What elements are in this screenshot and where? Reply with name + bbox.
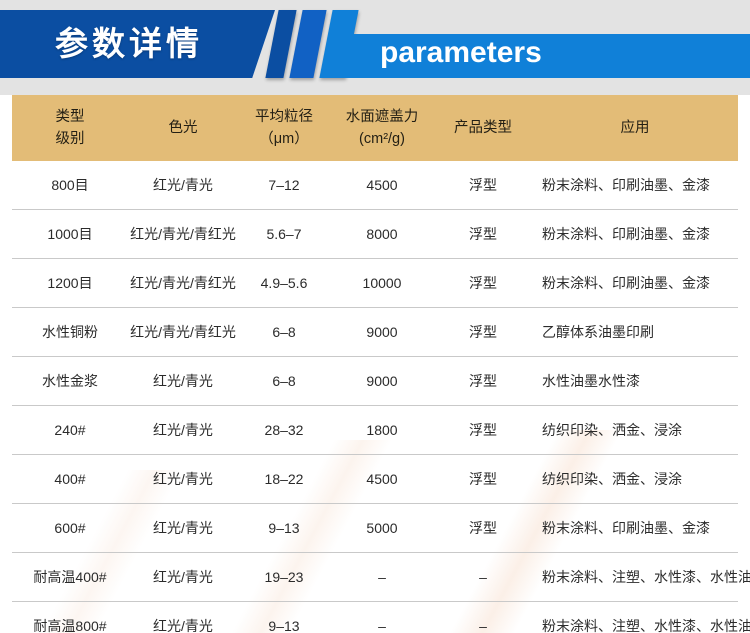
cell-color: 红光/青光/青红光 bbox=[128, 259, 238, 308]
cell-type: 水性铜粉 bbox=[12, 308, 128, 357]
column-header-particle-size-line1: 平均粒径 bbox=[240, 106, 328, 128]
column-header-color-line1: 色光 bbox=[130, 117, 236, 139]
table-row: 耐高温800#红光/青光9–13––粉末涂料、注塑、水性漆、水性油墨 bbox=[12, 602, 738, 633]
cell-application: 粉末涂料、印刷油墨、金漆 bbox=[532, 210, 738, 259]
column-header-water-coverage-line2: (cm²/g) bbox=[332, 128, 432, 150]
cell-particle-size: 9–13 bbox=[238, 602, 330, 633]
cell-water-coverage: 9000 bbox=[330, 357, 434, 406]
table-header-row: 类型 级别 色光 平均粒径 （μm） 水面遮盖力 (cm²/g) bbox=[12, 95, 738, 161]
cell-type: 1200目 bbox=[12, 259, 128, 308]
cell-application: 粉末涂料、印刷油墨、金漆 bbox=[532, 161, 738, 210]
column-header-product-type: 产品类型 bbox=[434, 95, 532, 161]
cell-product-type: 浮型 bbox=[434, 210, 532, 259]
cell-product-type: 浮型 bbox=[434, 259, 532, 308]
cell-type: 耐高温400# bbox=[12, 553, 128, 602]
cell-type: 400# bbox=[12, 455, 128, 504]
cell-particle-size: 4.9–5.6 bbox=[238, 259, 330, 308]
cell-color: 红光/青光 bbox=[128, 504, 238, 553]
cell-product-type: 浮型 bbox=[434, 357, 532, 406]
cell-particle-size: 28–32 bbox=[238, 406, 330, 455]
cell-product-type: – bbox=[434, 602, 532, 633]
cell-water-coverage: 5000 bbox=[330, 504, 434, 553]
cell-water-coverage: 8000 bbox=[330, 210, 434, 259]
cell-water-coverage: 10000 bbox=[330, 259, 434, 308]
banner-top-strip bbox=[0, 0, 750, 10]
banner-title-cn: 参数详情 bbox=[55, 17, 203, 71]
cell-product-type: – bbox=[434, 553, 532, 602]
spec-table-body: 800目红光/青光7–124500浮型粉末涂料、印刷油墨、金漆1000目红光/青… bbox=[12, 161, 738, 633]
cell-water-coverage: – bbox=[330, 553, 434, 602]
cell-color: 红光/青光 bbox=[128, 406, 238, 455]
cell-type: 水性金浆 bbox=[12, 357, 128, 406]
cell-water-coverage: 4500 bbox=[330, 455, 434, 504]
column-header-application-line1: 应用 bbox=[534, 117, 736, 139]
cell-water-coverage: 4500 bbox=[330, 161, 434, 210]
table-row: 耐高温400#红光/青光19–23––粉末涂料、注塑、水性漆、水性油墨 bbox=[12, 553, 738, 602]
cell-application: 纺织印染、洒金、浸涂 bbox=[532, 455, 738, 504]
cell-type: 600# bbox=[12, 504, 128, 553]
cell-product-type: 浮型 bbox=[434, 308, 532, 357]
spec-table-container: 类型 级别 色光 平均粒径 （μm） 水面遮盖力 (cm²/g) bbox=[12, 95, 738, 633]
cell-particle-size: 6–8 bbox=[238, 308, 330, 357]
cell-particle-size: 5.6–7 bbox=[238, 210, 330, 259]
table-row: 240#红光/青光28–321800浮型纺织印染、洒金、浸涂 bbox=[12, 406, 738, 455]
cell-product-type: 浮型 bbox=[434, 455, 532, 504]
spec-table: 类型 级别 色光 平均粒径 （μm） 水面遮盖力 (cm²/g) bbox=[12, 95, 738, 633]
column-header-water-coverage-line1: 水面遮盖力 bbox=[332, 106, 432, 128]
cell-particle-size: 18–22 bbox=[238, 455, 330, 504]
cell-application: 乙醇体系油墨印刷 bbox=[532, 308, 738, 357]
cell-water-coverage: – bbox=[330, 602, 434, 633]
column-header-type-line1: 类型 bbox=[14, 106, 126, 128]
column-header-type-line2: 级别 bbox=[14, 128, 126, 150]
cell-application: 粉末涂料、印刷油墨、金漆 bbox=[532, 259, 738, 308]
cell-particle-size: 7–12 bbox=[238, 161, 330, 210]
column-header-type: 类型 级别 bbox=[12, 95, 128, 161]
cell-type: 240# bbox=[12, 406, 128, 455]
cell-color: 红光/青光 bbox=[128, 455, 238, 504]
cell-type: 耐高温800# bbox=[12, 602, 128, 633]
column-header-particle-size: 平均粒径 （μm） bbox=[238, 95, 330, 161]
page-root: 参数详情 parameters 类型 级别 色光 平 bbox=[0, 0, 750, 633]
cell-application: 粉末涂料、印刷油墨、金漆 bbox=[532, 504, 738, 553]
cell-type: 800目 bbox=[12, 161, 128, 210]
column-header-particle-size-line2: （μm） bbox=[240, 128, 328, 150]
cell-color: 红光/青光 bbox=[128, 357, 238, 406]
cell-particle-size: 9–13 bbox=[238, 504, 330, 553]
page-banner: 参数详情 parameters bbox=[0, 0, 750, 95]
cell-particle-size: 19–23 bbox=[238, 553, 330, 602]
column-header-water-coverage: 水面遮盖力 (cm²/g) bbox=[330, 95, 434, 161]
cell-color: 红光/青光 bbox=[128, 602, 238, 633]
cell-water-coverage: 9000 bbox=[330, 308, 434, 357]
table-row: 400#红光/青光18–224500浮型纺织印染、洒金、浸涂 bbox=[12, 455, 738, 504]
banner-title-en: parameters bbox=[380, 28, 542, 78]
cell-color: 红光/青光/青红光 bbox=[128, 308, 238, 357]
cell-product-type: 浮型 bbox=[434, 161, 532, 210]
table-row: 水性铜粉红光/青光/青红光6–89000浮型乙醇体系油墨印刷 bbox=[12, 308, 738, 357]
cell-color: 红光/青光/青红光 bbox=[128, 210, 238, 259]
cell-application: 水性油墨水性漆 bbox=[532, 357, 738, 406]
cell-water-coverage: 1800 bbox=[330, 406, 434, 455]
cell-product-type: 浮型 bbox=[434, 504, 532, 553]
column-header-product-type-line1: 产品类型 bbox=[436, 117, 530, 139]
column-header-application: 应用 bbox=[532, 95, 738, 161]
spec-table-head: 类型 级别 色光 平均粒径 （μm） 水面遮盖力 (cm²/g) bbox=[12, 95, 738, 161]
cell-application: 粉末涂料、注塑、水性漆、水性油墨 bbox=[532, 553, 738, 602]
table-row: 1200目红光/青光/青红光4.9–5.610000浮型粉末涂料、印刷油墨、金漆 bbox=[12, 259, 738, 308]
table-row: 800目红光/青光7–124500浮型粉末涂料、印刷油墨、金漆 bbox=[12, 161, 738, 210]
cell-particle-size: 6–8 bbox=[238, 357, 330, 406]
cell-color: 红光/青光 bbox=[128, 553, 238, 602]
table-row: 1000目红光/青光/青红光5.6–78000浮型粉末涂料、印刷油墨、金漆 bbox=[12, 210, 738, 259]
column-header-color: 色光 bbox=[128, 95, 238, 161]
cell-application: 粉末涂料、注塑、水性漆、水性油墨 bbox=[532, 602, 738, 633]
cell-color: 红光/青光 bbox=[128, 161, 238, 210]
table-row: 水性金浆红光/青光6–89000浮型水性油墨水性漆 bbox=[12, 357, 738, 406]
cell-type: 1000目 bbox=[12, 210, 128, 259]
cell-application: 纺织印染、洒金、浸涂 bbox=[532, 406, 738, 455]
cell-product-type: 浮型 bbox=[434, 406, 532, 455]
table-row: 600#红光/青光9–135000浮型粉末涂料、印刷油墨、金漆 bbox=[12, 504, 738, 553]
